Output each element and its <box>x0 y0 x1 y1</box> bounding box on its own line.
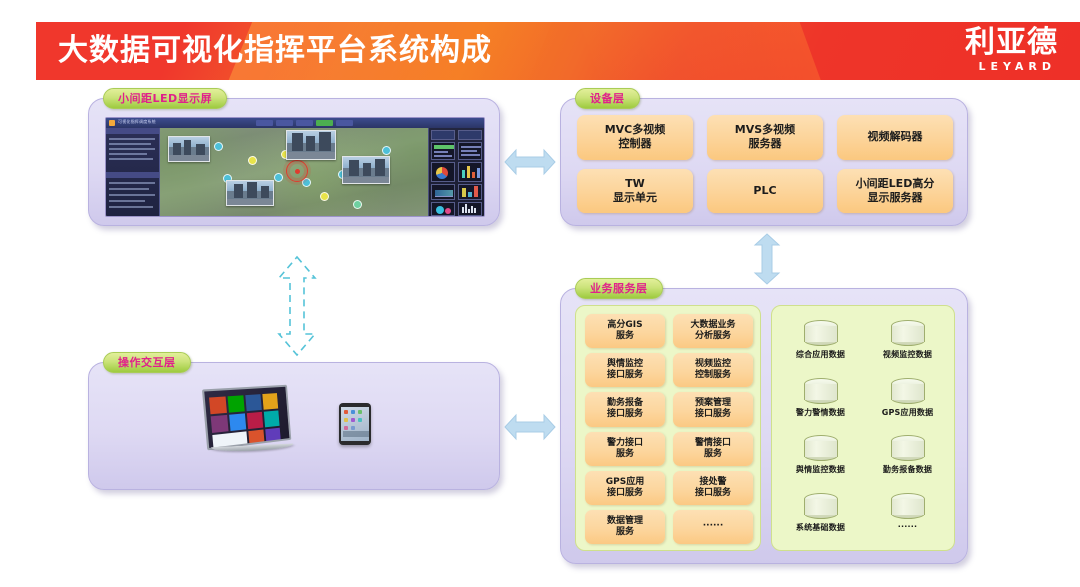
panel-tab-ops: 操作交互层 <box>103 352 191 373</box>
thumb-building <box>247 182 257 198</box>
database-label: 综合应用数据 <box>796 349 845 360</box>
arrow-led-to-device-icon <box>503 143 557 181</box>
panel-tab-device: 设备层 <box>575 88 640 109</box>
win-tile <box>262 393 278 410</box>
brand-logo-cn: 利亚德 <box>965 27 1058 59</box>
led-screenshot: 可视化指挥调度系统 <box>105 117 485 217</box>
tablet-app-icon <box>358 418 362 422</box>
database-item[interactable]: 系统基础数据 <box>780 489 861 545</box>
win-tile <box>248 429 264 443</box>
led-app-title: 可视化指挥调度系统 <box>118 119 156 125</box>
led-chart-widget <box>431 184 455 200</box>
led-right-widget <box>431 142 455 160</box>
thumb-building <box>196 144 205 155</box>
tablet-screen <box>341 407 369 441</box>
led-menu-2 <box>296 120 313 126</box>
led-app-topbar: 可视化指挥调度系统 <box>106 118 484 128</box>
map-photo-thumbnail <box>168 136 210 162</box>
service-box-grid: 高分GIS 服务 大数据业务 分析服务 舆情监控 接口服务 视频监控 控制服务 … <box>585 314 753 544</box>
arrow-ops-to-business-icon <box>503 408 557 446</box>
led-left-header-2 <box>106 172 159 178</box>
led-left-line <box>109 182 155 184</box>
map-poi-icon <box>382 146 391 155</box>
device-box-grid: MVC多视频 控制器 MVS多视频 服务器 视频解码器 TW 显示单元 PLC … <box>577 115 953 213</box>
thumb-building <box>349 160 359 176</box>
panel-led-display: 小间距LED显示屏 可视化指挥调度系统 <box>88 98 500 226</box>
panel-tab-led: 小间距LED显示屏 <box>103 88 227 109</box>
database-label: GPS应用数据 <box>882 407 934 418</box>
service-box[interactable]: 高分GIS 服务 <box>585 314 665 348</box>
database-cylinder-icon <box>804 320 838 346</box>
thumb-building <box>261 186 269 198</box>
tablet-illustration <box>339 403 371 445</box>
database-item[interactable]: 舆情监控数据 <box>780 431 861 487</box>
database-cylinder-icon <box>804 378 838 404</box>
thumb-building <box>234 184 243 198</box>
arrow-led-to-ops-icon <box>271 254 323 358</box>
panel-device-layer: 设备层 MVC多视频 控制器 MVS多视频 服务器 视频解码器 TW 显示单元 … <box>560 98 968 226</box>
led-app-logo-icon <box>109 120 115 126</box>
service-box[interactable]: 大数据业务 分析服务 <box>673 314 753 348</box>
tablet-app-icon <box>344 426 348 430</box>
database-item[interactable]: GPS应用数据 <box>867 374 948 430</box>
thumb-ground <box>169 155 209 161</box>
led-menu-4 <box>336 120 353 126</box>
win-tile <box>229 413 246 431</box>
service-box[interactable]: GPS应用 接口服务 <box>585 471 665 505</box>
thumb-building <box>292 133 303 151</box>
led-left-line <box>109 200 145 202</box>
led-left-line <box>109 206 153 208</box>
arrow-device-to-business-icon <box>748 232 786 286</box>
database-label: 勤务报备数据 <box>883 464 932 475</box>
database-grid: 综合应用数据 视频监控数据 警力警情数据 GPS应用数据 舆情监控数据 勤务报备… <box>780 316 948 544</box>
thumb-building <box>184 140 191 155</box>
led-menu-1 <box>276 120 293 126</box>
map-alert-radar-icon <box>286 160 308 182</box>
led-left-panel <box>106 128 160 217</box>
service-group: 高分GIS 服务 大数据业务 分析服务 舆情监控 接口服务 视频监控 控制服务 … <box>575 305 761 551</box>
service-box[interactable]: 警力接口 服务 <box>585 432 665 466</box>
tablet-app-icon <box>344 410 348 414</box>
database-cylinder-icon <box>891 435 925 461</box>
led-chart-widget <box>431 202 455 216</box>
led-right-widget <box>458 142 482 160</box>
led-right-panel <box>428 128 484 217</box>
database-item[interactable]: 视频监控数据 <box>867 316 948 372</box>
panel-tab-business: 业务服务层 <box>575 278 663 299</box>
thumb-building <box>319 132 331 151</box>
panel-operation-interaction: 操作交互层 <box>88 362 500 490</box>
map-photo-thumbnail <box>342 156 390 184</box>
win-tile <box>245 394 261 411</box>
led-left-line <box>109 153 147 155</box>
brand-logo: 利亚德 LEYARD <box>965 27 1058 74</box>
tablet-app-icon <box>351 426 355 430</box>
device-box[interactable]: 小间距LED高分 显示服务器 <box>837 169 953 214</box>
service-box[interactable]: 警情接口 服务 <box>673 432 753 466</box>
desktop-screen <box>202 385 291 451</box>
database-item[interactable]: 综合应用数据 <box>780 316 861 372</box>
device-box[interactable]: TW 显示单元 <box>577 169 693 214</box>
database-label: ······ <box>898 522 917 531</box>
desktop-computer-illustration <box>201 387 297 453</box>
database-group: 综合应用数据 视频监控数据 警力警情数据 GPS应用数据 舆情监控数据 勤务报备… <box>771 305 955 551</box>
service-box[interactable]: 预案管理 接口服务 <box>673 392 753 426</box>
map-poi-icon <box>320 192 329 201</box>
led-chart-widget <box>458 184 482 200</box>
map-photo-thumbnail <box>286 130 336 160</box>
led-menu-0 <box>256 120 273 126</box>
database-cylinder-icon <box>804 435 838 461</box>
database-cylinder-icon <box>891 378 925 404</box>
led-left-line <box>109 143 151 145</box>
led-chart-widget <box>458 202 482 216</box>
map-photo-thumbnail <box>226 180 274 206</box>
led-left-line <box>109 138 155 140</box>
header-bar: 大数据可视化指挥平台系统构成 利亚德 LEYARD <box>36 22 1080 80</box>
led-left-header-1 <box>106 128 159 134</box>
device-box[interactable]: PLC <box>707 169 823 214</box>
thumb-building <box>363 163 371 176</box>
led-left-line <box>109 188 149 190</box>
device-box[interactable]: MVS多视频 服务器 <box>707 115 823 160</box>
device-box[interactable]: 视频解码器 <box>837 115 953 160</box>
thumb-building <box>306 136 315 151</box>
service-box[interactable]: 数据管理 服务 <box>585 510 665 544</box>
win-tile <box>265 428 280 441</box>
tablet-app-icon <box>344 418 348 422</box>
database-cylinder-icon <box>804 493 838 519</box>
led-right-widget <box>431 130 455 140</box>
win-tile <box>247 412 263 429</box>
brand-logo-en: LEYARD <box>965 60 1058 74</box>
led-left-line <box>109 148 155 150</box>
win-tile <box>264 410 280 427</box>
map-poi-icon <box>248 156 257 165</box>
page-title: 大数据可视化指挥平台系统构成 <box>58 31 492 71</box>
database-label: 警力警情数据 <box>796 407 845 418</box>
database-cylinder-icon <box>891 493 925 519</box>
map-poi-icon <box>214 142 223 151</box>
database-cylinder-icon <box>891 320 925 346</box>
service-box[interactable]: ······ <box>673 510 753 544</box>
service-box[interactable]: 视频监控 控制服务 <box>673 353 753 387</box>
tablet-app-icon <box>358 410 362 414</box>
database-item[interactable]: 勤务报备数据 <box>867 431 948 487</box>
led-chart-widget <box>431 162 455 182</box>
service-box[interactable]: 接处警 接口服务 <box>673 471 753 505</box>
database-label: 系统基础数据 <box>796 522 845 533</box>
tablet-app-icon <box>351 418 355 422</box>
thumb-building <box>173 143 181 155</box>
led-right-widget <box>458 130 482 140</box>
map-poi-icon <box>353 200 362 209</box>
map-poi-icon <box>274 173 283 182</box>
service-box[interactable]: 舆情监控 接口服务 <box>585 353 665 387</box>
win-tile <box>228 395 245 412</box>
win-tile <box>211 415 229 433</box>
led-menu-3 <box>316 120 333 126</box>
database-label: 视频监控数据 <box>883 349 932 360</box>
database-label: 舆情监控数据 <box>796 464 845 475</box>
thumb-ground <box>343 177 389 183</box>
database-item[interactable]: 警力警情数据 <box>780 374 861 430</box>
tablet-dock <box>343 431 369 437</box>
thumb-ground <box>227 199 273 205</box>
led-left-line <box>109 194 155 196</box>
database-item[interactable]: ······ <box>867 489 948 545</box>
thumb-building <box>375 159 385 176</box>
tablet-app-icon <box>351 410 355 414</box>
device-box[interactable]: MVC多视频 控制器 <box>577 115 693 160</box>
win-tile <box>209 396 227 414</box>
led-chart-widget <box>458 162 482 182</box>
service-box[interactable]: 勤务报备 接口服务 <box>585 392 665 426</box>
thumb-ground <box>287 152 335 159</box>
led-left-line <box>109 158 153 160</box>
panel-business-service-layer: 业务服务层 高分GIS 服务 大数据业务 分析服务 舆情监控 接口服务 视频监控… <box>560 288 968 564</box>
